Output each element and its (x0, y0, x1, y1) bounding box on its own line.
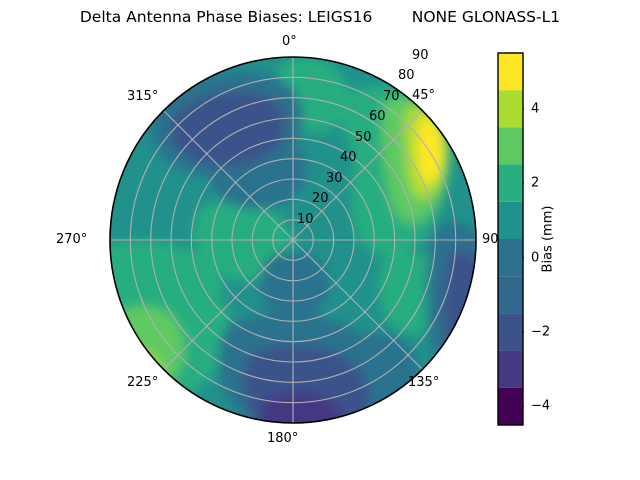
theta-tick-225: 225° (127, 375, 158, 390)
theta-tick-135: 135° (408, 375, 439, 390)
colorbar-bands (498, 53, 523, 425)
polar-axes: 0° 45° 90 135° 180° 225° 270° 315° 10 20… (109, 56, 477, 424)
colorbar-tick-neg2: −2 (531, 325, 550, 340)
colorbar-tick-4: 4 (531, 101, 539, 116)
colorbar-tick-0: 0 (531, 250, 539, 265)
r-tick-60: 60 (369, 109, 386, 124)
r-tick-50: 50 (355, 130, 372, 145)
r-tick-40: 40 (340, 150, 357, 165)
polar-grid (110, 57, 476, 423)
r-tick-80: 80 (398, 68, 415, 83)
theta-tick-270: 270° (56, 232, 87, 247)
chart-title: Delta Antenna Phase Biases: LEIGS16 NONE… (0, 8, 640, 26)
r-tick-10: 10 (297, 212, 314, 227)
r-tick-90: 90 (412, 48, 429, 63)
r-tick-70: 70 (383, 89, 400, 104)
theta-tick-315: 315° (127, 89, 158, 104)
polar-plot-svg (109, 56, 477, 424)
theta-tick-180: 180° (267, 431, 298, 446)
figure-canvas: Delta Antenna Phase Biases: LEIGS16 NONE… (0, 0, 640, 480)
r-tick-30: 30 (326, 171, 343, 186)
theta-tick-0: 0° (282, 34, 297, 49)
colorbar-svg (497, 52, 524, 426)
colorbar-tick-neg4: −4 (531, 399, 550, 414)
r-tick-20: 20 (312, 191, 329, 206)
colorbar: 4 2 0 −2 −4 (497, 52, 524, 426)
colorbar-axis-label: Bias (mm) (541, 206, 556, 273)
theta-tick-45: 45° (412, 88, 435, 103)
colorbar-tick-2: 2 (531, 176, 539, 191)
